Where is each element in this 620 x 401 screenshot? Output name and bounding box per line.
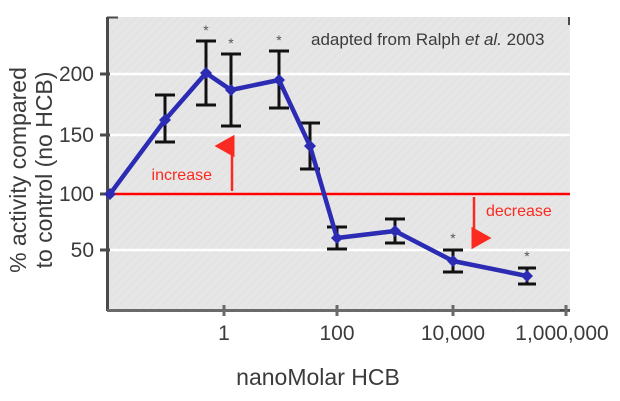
x-tick-label-1000000: 1,000,000 [515, 322, 608, 345]
y-tick-label-200: 200 [59, 63, 94, 86]
x-tick-label-100: 100 [319, 322, 354, 345]
y-axis-title-line1: % activity compared [5, 67, 31, 273]
y-tick-label-100: 100 [59, 183, 94, 206]
source-note-italic: et al. [465, 30, 502, 49]
significance-star-10: * [524, 248, 530, 264]
y-axis-title-line2: to control (no HCB) [31, 72, 57, 269]
y-tick-label-150: 150 [59, 124, 94, 147]
source-note-post: 2003 [502, 30, 545, 49]
increase-label: increase [152, 167, 213, 184]
significance-star-9: * [450, 230, 456, 246]
x-axis-title: nanoMolar HCB [236, 364, 400, 390]
x-tick-label-10000: 10,000 [421, 322, 485, 345]
source-note: adapted from Ralph et al. 2003 [311, 30, 544, 49]
y-tick-label-50: 50 [71, 239, 94, 262]
decrease-label: decrease [486, 203, 552, 220]
x-tick-label-1: 1 [218, 322, 230, 345]
plot-texture [107, 17, 570, 310]
significance-star-5: * [276, 32, 282, 48]
chart-svg: 50 100 150 200 1 100 10,000 1,000,000 [0, 0, 620, 401]
significance-star-3: * [203, 22, 209, 38]
significance-star-4: * [228, 35, 234, 51]
chart-figure: 50 100 150 200 1 100 10,000 1,000,000 [0, 0, 620, 401]
source-note-pre: adapted from Ralph [311, 30, 465, 49]
